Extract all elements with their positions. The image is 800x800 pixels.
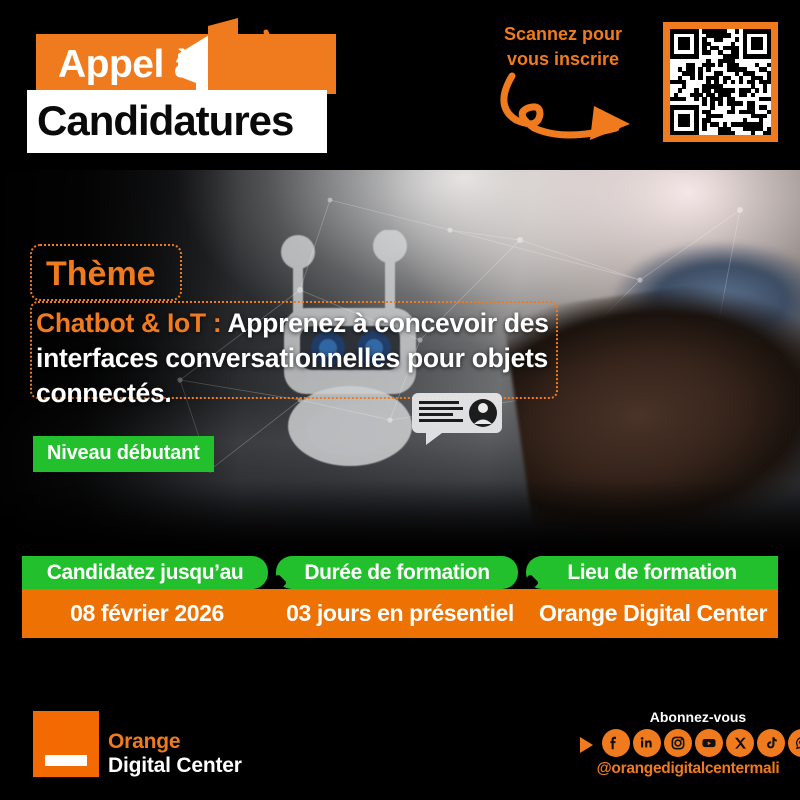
scan-instruction: Scannez pour vous inscrire xyxy=(478,22,648,72)
level-badge: Niveau débutant xyxy=(33,436,214,472)
poster-root: Appel à Candidatures Scannez pour vous i… xyxy=(0,0,800,800)
info-value-0: 08 février 2026 xyxy=(22,589,272,638)
info-header-0: Candidatez jusqu’au xyxy=(22,556,268,589)
brand-name-digital-center: Digital Center xyxy=(108,754,242,778)
youtube-icon[interactable] xyxy=(695,729,723,757)
info-headers-row: Candidatez jusqu’au Durée de formation L… xyxy=(22,556,778,589)
info-header-2: Lieu de formation xyxy=(526,556,778,589)
qr-code[interactable] xyxy=(663,22,778,142)
candidatures-text: Candidatures xyxy=(37,92,293,150)
x-twitter-icon[interactable] xyxy=(726,729,754,757)
scan-line-2: vous inscrire xyxy=(478,47,648,72)
instagram-icon[interactable] xyxy=(664,729,692,757)
theme-highlight: Chatbot & IoT : xyxy=(36,308,221,338)
info-bars: Candidatez jusqu’au Durée de formation L… xyxy=(22,556,778,638)
brand-name-orange: Orange xyxy=(108,730,180,754)
curved-arrow-icon xyxy=(490,72,660,152)
facebook-icon[interactable] xyxy=(602,729,630,757)
social-icons xyxy=(580,729,798,759)
linkedin-icon[interactable] xyxy=(633,729,661,757)
qr-pattern xyxy=(670,29,771,135)
theme-label-box: Thème xyxy=(30,244,182,301)
chat-bubble-icon xyxy=(412,393,502,445)
tiktok-icon[interactable] xyxy=(757,729,785,757)
candidatures-banner: Candidatures xyxy=(27,90,327,153)
info-value-1: 03 jours en présentiel xyxy=(272,589,528,638)
social-handle[interactable]: @orangedigitalcentermali xyxy=(576,760,800,778)
orange-logo-bar xyxy=(45,755,87,766)
info-values-row: 08 février 2026 03 jours en présentiel O… xyxy=(22,589,778,638)
subscribe-label: Abonnez-vous xyxy=(598,709,798,725)
info-header-1: Durée de formation xyxy=(276,556,518,589)
bottom-vignette xyxy=(0,480,800,550)
top-banner: Appel à Candidatures Scannez pour vous i… xyxy=(0,0,800,170)
info-value-2: Orange Digital Center xyxy=(528,589,778,638)
whatsapp-icon[interactable] xyxy=(788,729,800,757)
orange-logo-square xyxy=(33,711,99,777)
scan-line-1: Scannez pour xyxy=(478,22,648,47)
play-triangle-icon xyxy=(580,737,593,753)
theme-label: Thème xyxy=(46,251,156,297)
